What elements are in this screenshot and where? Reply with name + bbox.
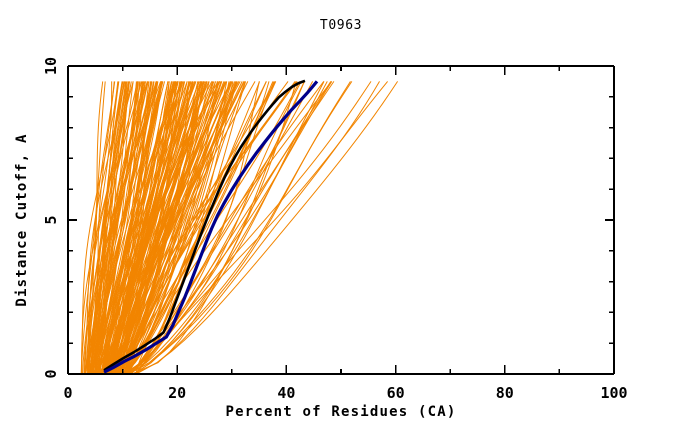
x-tick-label: 40 [277,384,295,402]
plot-svg: 0204060801000510 T0963 Percent of Residu… [0,0,680,440]
chart-canvas: 0204060801000510 T0963 Percent of Residu… [0,0,680,440]
x-tick-label: 0 [63,384,72,402]
y-tick-label: 0 [42,369,60,378]
x-axis-title: Percent of Residues (CA) [225,404,456,420]
x-tick-label: 60 [387,384,405,402]
y-tick-label: 10 [42,57,60,75]
x-tick-label: 100 [600,384,627,402]
page-title: T0963 [320,18,362,33]
y-tick-label: 5 [42,215,60,224]
x-tick-label: 80 [496,384,514,402]
y-axis-title: Distance Cutoff, A [14,133,30,306]
x-tick-label: 20 [168,384,186,402]
